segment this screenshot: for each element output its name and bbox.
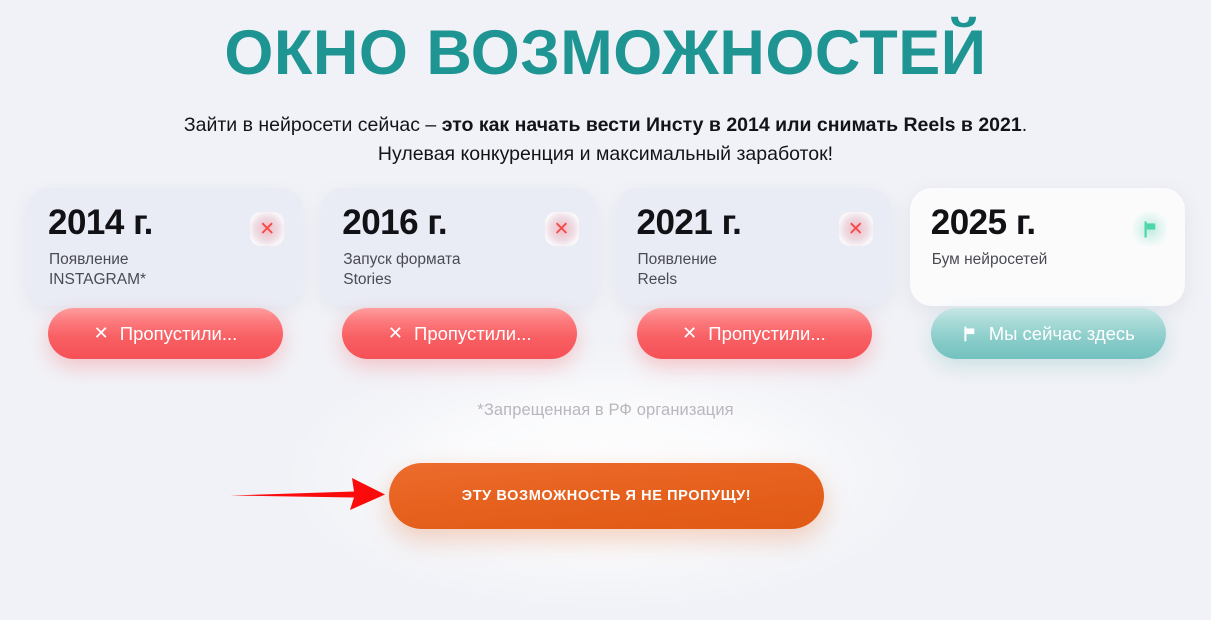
timeline-card-2025[interactable]: 2025 г. Бум нейросетей Мы сейчас здесь bbox=[910, 188, 1185, 306]
subtitle-part-1: Зайти в нейросети сейчас – bbox=[184, 114, 442, 136]
close-icon: ✕ bbox=[94, 325, 109, 343]
timeline-card-2021[interactable]: 2021 г. Появление Reels ✕ ✕ Пропустили..… bbox=[616, 188, 891, 306]
current-position-button[interactable]: Мы сейчас здесь bbox=[931, 308, 1166, 359]
cta-button[interactable]: ЭТУ ВОЗМОЖНОСТЬ Я НЕ ПРОПУЩУ! bbox=[389, 463, 824, 529]
card-year: 2014 г. bbox=[48, 203, 153, 243]
timeline-card-2016[interactable]: 2016 г. Запуск формата Stories ✕ ✕ Пропу… bbox=[321, 188, 596, 306]
flag-icon bbox=[962, 326, 978, 342]
page-title: ОКНО ВОЗМОЖНОСТЕЙ bbox=[0, 17, 1211, 89]
card-year: 2021 г. bbox=[637, 203, 742, 243]
subtitle-bold-1: это как начать вести Инсту в 2014 или сн… bbox=[442, 114, 1022, 136]
close-icon: ✕ bbox=[250, 212, 284, 246]
card-year: 2016 г. bbox=[342, 203, 447, 243]
missed-button-2016[interactable]: ✕ Пропустили... bbox=[342, 308, 577, 359]
current-position-label: Мы сейчас здесь bbox=[989, 323, 1135, 345]
cta-button-label: ЭТУ ВОЗМОЖНОСТЬ Я НЕ ПРОПУЩУ! bbox=[462, 488, 751, 504]
missed-button-label: Пропустили... bbox=[708, 323, 826, 345]
timeline-card-2014[interactable]: 2014 г. Появление INSTAGRAM* ✕ ✕ Пропуст… bbox=[27, 188, 302, 306]
close-glyph: ✕ bbox=[848, 220, 864, 239]
close-icon: ✕ bbox=[682, 325, 697, 343]
red-arrow-right-icon bbox=[228, 470, 388, 518]
close-glyph: ✕ bbox=[259, 220, 275, 239]
close-icon: ✕ bbox=[388, 325, 403, 343]
footnote-disclaimer: *Запрещенная в РФ организация bbox=[0, 399, 1211, 421]
close-icon: ✕ bbox=[839, 212, 873, 246]
promo-page: ОКНО ВОЗМОЖНОСТЕЙ Зайти в нейросети сейч… bbox=[0, 0, 1211, 565]
card-description: Появление INSTAGRAM* bbox=[49, 250, 146, 290]
timeline-cards: 2014 г. Появление INSTAGRAM* ✕ ✕ Пропуст… bbox=[27, 188, 1185, 306]
close-glyph: ✕ bbox=[554, 220, 570, 239]
missed-button-2014[interactable]: ✕ Пропустили... bbox=[48, 308, 283, 359]
missed-button-2021[interactable]: ✕ Пропустили... bbox=[637, 308, 872, 359]
card-description: Запуск формата Stories bbox=[343, 250, 460, 290]
page-subtitle: Зайти в нейросети сейчас – это как начат… bbox=[176, 111, 1036, 169]
close-icon: ✕ bbox=[545, 212, 579, 246]
card-description: Бум нейросетей bbox=[932, 250, 1048, 270]
card-year: 2025 г. bbox=[931, 203, 1036, 243]
missed-button-label: Пропустили... bbox=[414, 323, 532, 345]
card-description: Появление Reels bbox=[638, 250, 718, 290]
flag-icon bbox=[1133, 212, 1167, 246]
missed-button-label: Пропустили... bbox=[120, 323, 238, 345]
